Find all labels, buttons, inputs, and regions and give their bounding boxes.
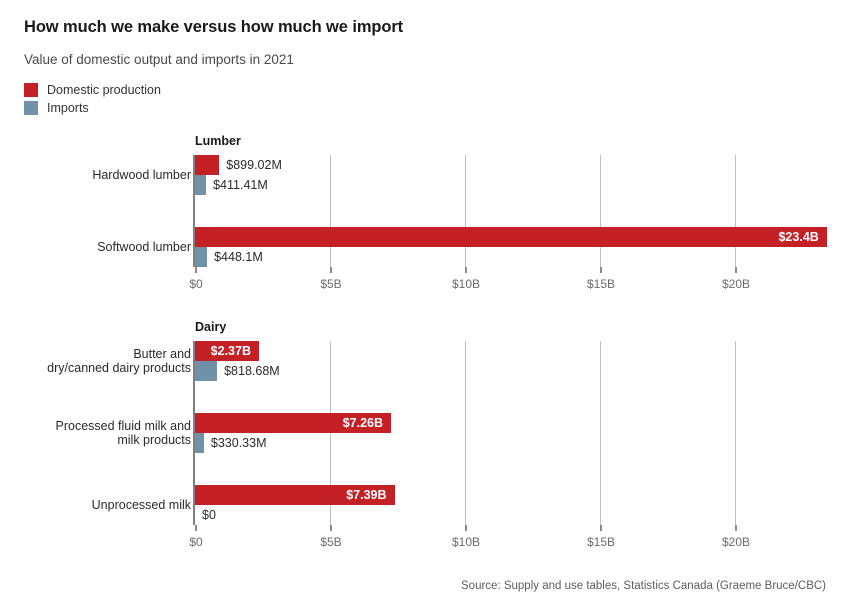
bar-imports[interactable] (195, 433, 204, 453)
gridline (600, 155, 601, 267)
bar-label-imports: $448.1M (214, 247, 263, 267)
axis-tick (735, 267, 737, 273)
panel-title: Dairy (195, 320, 226, 334)
axis-tick (465, 267, 467, 273)
axis-tick (600, 525, 602, 531)
legend: Domestic productionImports (24, 82, 826, 116)
category-label: Butter and dry/canned dairy products (11, 347, 191, 375)
category-label: Softwood lumber (11, 240, 191, 254)
axis-tick-label: $20B (722, 535, 750, 549)
source-note: Source: Supply and use tables, Statistic… (461, 580, 826, 592)
axis-tick (195, 267, 197, 273)
axis-tick-label: $10B (452, 277, 480, 291)
axis-tick (600, 267, 602, 273)
category-label: Hardwood lumber (11, 168, 191, 182)
bar-label-domestic-production: $23.4B (195, 227, 819, 247)
axis-tick-label: $20B (722, 277, 750, 291)
chart-header: How much we make versus how much we impo… (0, 0, 850, 116)
legend-item-imports: Imports (24, 100, 826, 116)
gridline (600, 341, 601, 525)
axis-tick-label: $15B (587, 535, 615, 549)
gridline (330, 155, 331, 267)
category-label: Processed fluid milk and milk products (11, 419, 191, 447)
panel-title: Lumber (195, 134, 241, 148)
page-title: How much we make versus how much we impo… (24, 18, 826, 38)
axis-tick-label: $5B (320, 277, 341, 291)
axis-tick-label: $15B (587, 277, 615, 291)
axis-tick (735, 525, 737, 531)
legend-label-domestic: Domestic production (47, 84, 161, 97)
bar-label-imports: $818.68M (224, 361, 280, 381)
legend-swatch-imports (24, 101, 38, 115)
axis-tick (330, 525, 332, 531)
gridline (735, 155, 736, 267)
bar-label-domestic-production: $7.26B (195, 413, 383, 433)
legend-item-domestic: Domestic production (24, 82, 826, 98)
axis-tick-label: $5B (320, 535, 341, 549)
legend-swatch-domestic (24, 83, 38, 97)
bar-label-domestic-production: $7.39B (195, 485, 387, 505)
axis-tick-label: $0 (189, 277, 202, 291)
bar-label-domestic-production: $2.37B (195, 341, 251, 361)
bar-domestic-production[interactable] (195, 155, 219, 175)
gridline (465, 341, 466, 525)
bar-label-imports: $411.41M (213, 175, 268, 195)
gridline (735, 341, 736, 525)
axis-tick (195, 525, 197, 531)
category-label: Unprocessed milk (11, 498, 191, 512)
gridline (465, 155, 466, 267)
bar-label-imports: $330.33M (211, 433, 267, 453)
bar-label-domestic-production: $899.02M (226, 155, 282, 175)
axis-tick (330, 267, 332, 273)
chart-subtitle: Value of domestic output and imports in … (24, 52, 826, 68)
bar-label-imports: $0 (202, 505, 216, 525)
legend-label-imports: Imports (47, 102, 89, 115)
axis-tick-label: $10B (452, 535, 480, 549)
axis-tick (465, 525, 467, 531)
axis-tick-label: $0 (189, 535, 202, 549)
bar-imports[interactable] (195, 175, 206, 195)
bar-imports[interactable] (195, 361, 217, 381)
bar-imports[interactable] (195, 247, 207, 267)
